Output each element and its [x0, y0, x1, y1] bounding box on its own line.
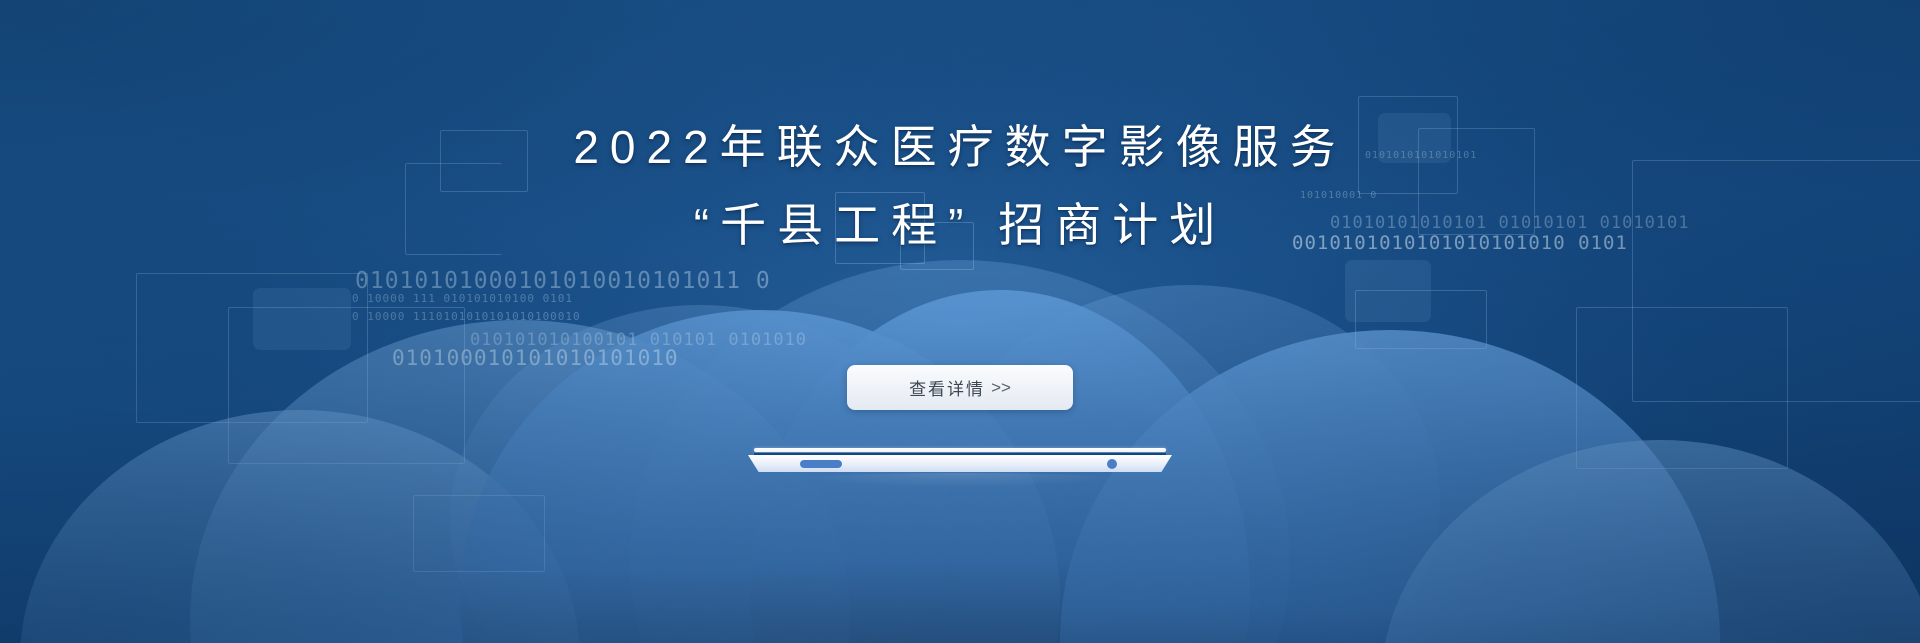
cta-container: 查看详情 >>	[0, 365, 1920, 410]
promo-banner: 01010101000101010010101011 0 0 10000 111…	[0, 0, 1920, 643]
chevron-right-double-icon: >>	[991, 378, 1011, 398]
background-glow	[210, 0, 1710, 643]
view-details-label: 查看详情	[909, 375, 985, 400]
headline: 2022年联众医疗数字影像服务 “千县工程” 招商计划	[0, 108, 1920, 264]
headline-line-2: “千县工程” 招商计划	[0, 186, 1920, 264]
laptop-illustration	[748, 448, 1172, 482]
deco-fill-right-2	[1345, 260, 1431, 322]
binary-string-3: 0 10000 1110101010101010100010	[352, 310, 581, 323]
laptop-notch-icon	[800, 460, 842, 468]
laptop-indicator-dot	[1107, 459, 1117, 469]
binary-string-2: 0 10000 111 010101010100 0101	[352, 292, 573, 305]
clouds-svg	[0, 0, 1920, 643]
binary-string-4: 010101010100101 010101 0101010	[470, 330, 807, 350]
corner-vignette	[0, 0, 1920, 643]
deco-rect-left-bottom	[413, 495, 545, 572]
headline-line-1: 2022年联众医疗数字影像服务	[0, 108, 1920, 186]
deco-fill-left	[253, 288, 351, 350]
cloud-decoration-layer	[0, 0, 1920, 643]
laptop-screen-edge	[754, 448, 1166, 452]
view-details-button[interactable]: 查看详情 >>	[847, 365, 1073, 410]
deco-rect-right-small	[1355, 290, 1487, 349]
laptop-shadow	[795, 473, 1125, 487]
binary-string-1: 01010101000101010010101011 0	[355, 268, 771, 294]
laptop-hinge-gap	[754, 453, 1166, 455]
